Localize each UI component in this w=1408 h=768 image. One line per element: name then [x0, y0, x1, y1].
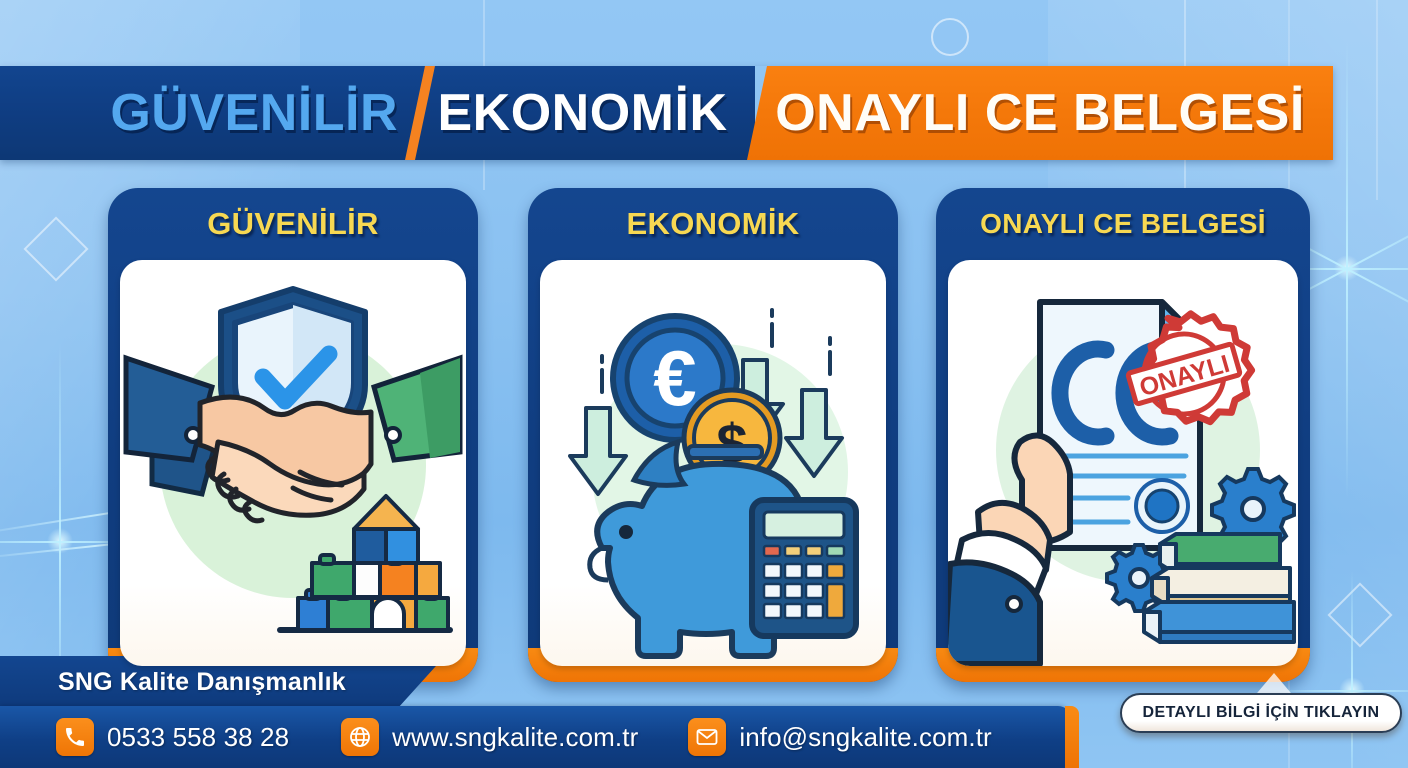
headline-segment-guvenilir: GÜVENİLİR: [0, 66, 422, 160]
headline-segment-ekonomik: EKONOMİK: [410, 66, 755, 160]
email-icon: [688, 718, 726, 756]
card-body-guvenilir: [120, 260, 466, 666]
card-body-ekonomik: € $: [540, 260, 886, 666]
globe-icon: [341, 718, 379, 756]
contact-phone[interactable]: 0533 558 38 28: [56, 718, 289, 756]
card-body-onayli-ce-belgesi: ONAYLI: [948, 260, 1298, 666]
card-title-guvenilir: GÜVENİLİR: [108, 188, 478, 260]
headline-text-guvenilir: GÜVENİLİR: [110, 87, 398, 139]
phone-icon: [56, 718, 94, 756]
cta-button[interactable]: DETAYLI BİLGİ İÇİN TIKLAYIN: [1120, 693, 1402, 733]
cta-button-label: DETAYLI BİLGİ İÇİN TIKLAYIN: [1143, 704, 1380, 722]
hand-holding-ce-certificate-onayli-stamp-gears-books-icon: ONAYLI: [948, 260, 1298, 666]
contact-website[interactable]: www.sngkalite.com.tr: [341, 718, 638, 756]
card-title-ekonomik: EKONOMİK: [528, 188, 898, 260]
card-title-onayli-ce-belgesi: ONAYLI CE BELGESİ: [936, 188, 1310, 260]
headline-text-ekonomik: EKONOMİK: [438, 87, 728, 139]
headline-text-onayli-ce-belgesi: ONAYLI CE BELGESİ: [775, 87, 1305, 139]
headline-banner: GÜVENİLİR EKONOMİK ONAYLI CE BELGESİ: [0, 66, 1333, 160]
piggy-bank-euro-dollar-coins-calculator-down-arrows-icon: € $: [540, 260, 886, 666]
email-address: info@sngkalite.com.tr: [739, 722, 991, 753]
headline-segment-onayli: ONAYLI CE BELGESİ: [747, 66, 1333, 160]
svg-text:€: €: [653, 334, 696, 422]
card-ekonomik[interactable]: EKONOMİK: [528, 188, 898, 682]
card-onayli-ce-belgesi[interactable]: ONAYLI CE BELGESİ: [936, 188, 1310, 682]
website-url: www.sngkalite.com.tr: [392, 722, 638, 753]
company-name: SNG Kalite Danışmanlık: [0, 668, 346, 697]
contact-email[interactable]: info@sngkalite.com.tr: [688, 718, 991, 756]
footer: SNG Kalite Danışmanlık 0533 558 38 28 ww…: [0, 656, 1408, 768]
phone-number: 0533 558 38 28: [107, 722, 289, 753]
decor-circle-top: [931, 18, 969, 56]
feature-cards: GÜVENİLİR: [0, 188, 1408, 688]
handshake-shield-checkmark-toy-blocks-icon: [120, 260, 466, 666]
contact-bar: 0533 558 38 28 www.sngkalite.com.tr info…: [0, 706, 1072, 768]
card-guvenilir[interactable]: GÜVENİLİR: [108, 188, 478, 682]
